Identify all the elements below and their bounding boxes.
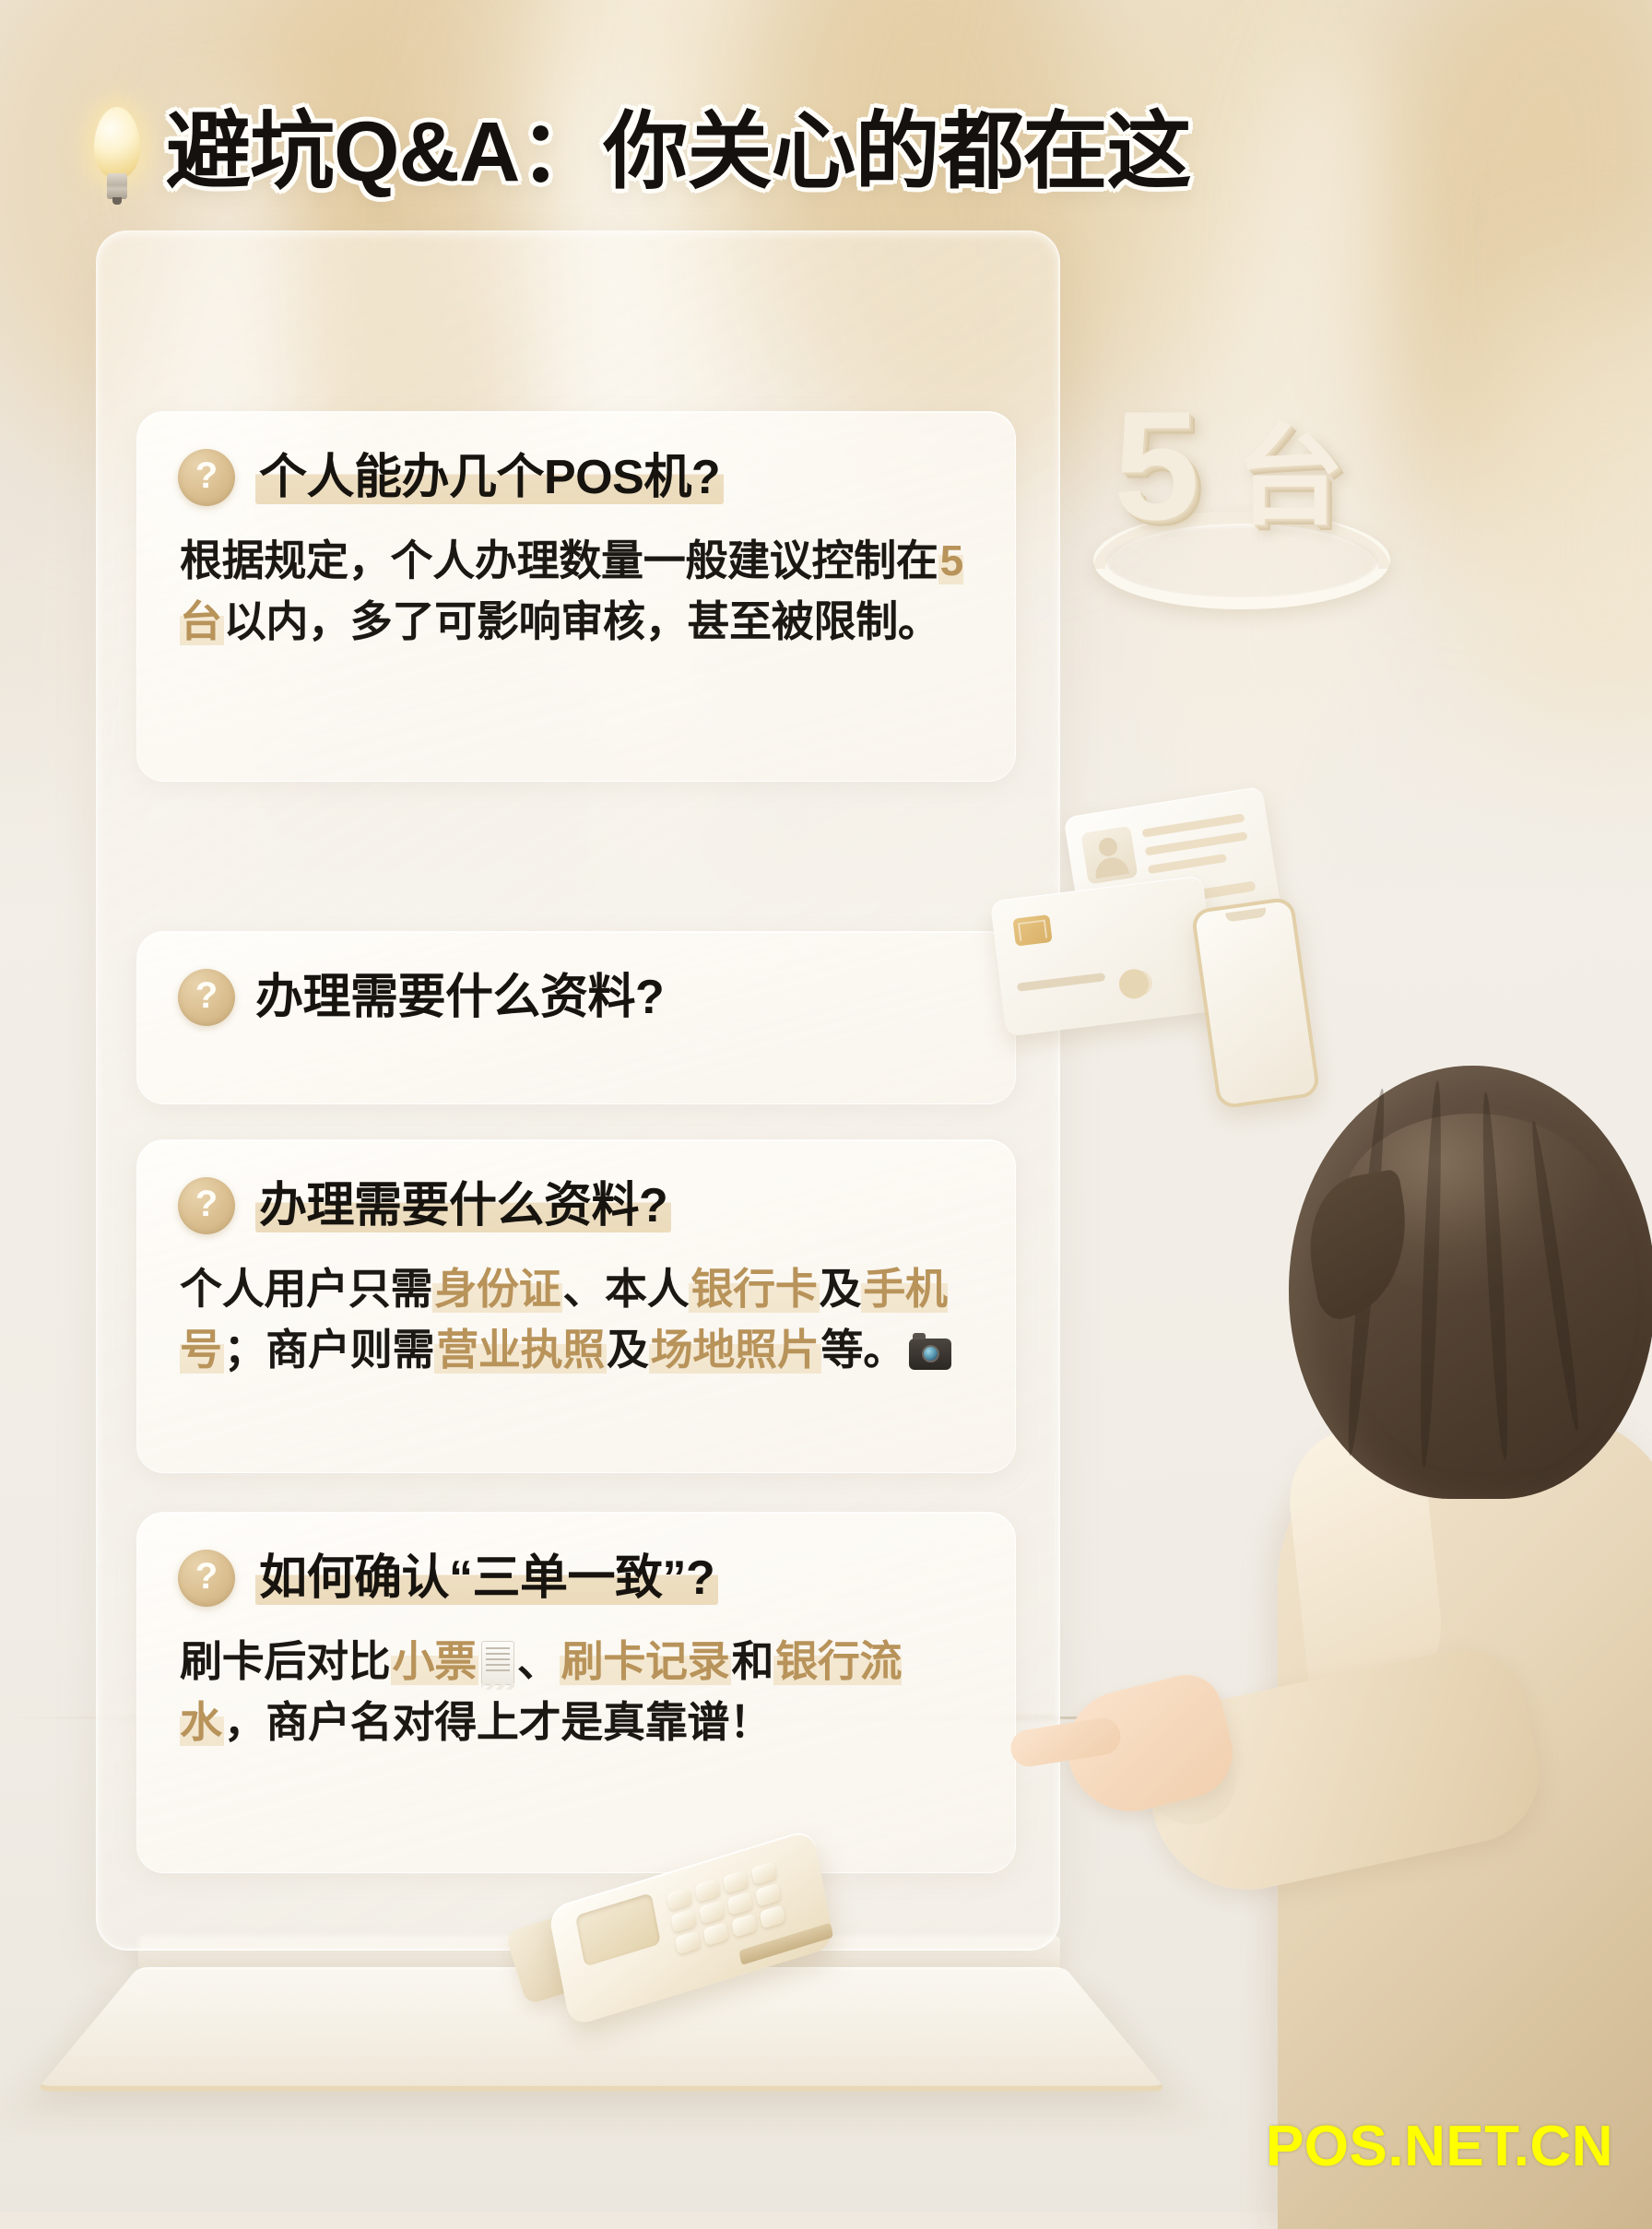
qa-card[interactable]: ? 办理需要什么资料? 个人用户只需身份证、本人银行卡及手机号；商户则需营业执照… bbox=[136, 1139, 1016, 1473]
qa-card[interactable]: ? 个人能办几个POS机? 根据规定，个人办理数量一般建议控制在5台以内，多了可… bbox=[136, 411, 1016, 782]
pos-screen bbox=[575, 1893, 661, 1966]
answer-highlight: 营业执照 bbox=[434, 1326, 607, 1374]
answer-text: 刷卡后对比小票、刷卡记录和银行流水，商户名对得上才是真靠谱！ bbox=[137, 1607, 1015, 1752]
answer-segment: 及 bbox=[607, 1326, 649, 1374]
qa-card[interactable]: ? 办理需要什么资料? bbox=[136, 931, 1016, 1104]
watermark: POS.NET.CN bbox=[1266, 2114, 1613, 2179]
answer-segment: 等。 bbox=[821, 1326, 905, 1374]
question-text: 如何确认“三单一致”? bbox=[255, 1550, 718, 1605]
question-row: ? 办理需要什么资料? bbox=[137, 932, 1015, 1026]
question-row: ? 办理需要什么资料? bbox=[137, 1140, 1015, 1234]
answer-segment: ；商户则需 bbox=[224, 1326, 435, 1374]
question-badge-icon: ? bbox=[178, 449, 235, 506]
question-row: ? 如何确认“三单一致”? bbox=[137, 1513, 1015, 1607]
question-label: 办理需要什么资料? bbox=[255, 1179, 671, 1232]
answer-segment: 以内，多了可影响审核，甚至被限制。 bbox=[224, 597, 940, 645]
question-row: ? 个人能办几个POS机? bbox=[137, 412, 1015, 506]
question-badge-icon: ? bbox=[178, 1550, 235, 1607]
question-text: 办理需要什么资料? bbox=[255, 1177, 671, 1232]
bank-card-icon bbox=[990, 875, 1219, 1036]
question-label: 个人能办几个POS机? bbox=[255, 451, 724, 504]
decor-count-number: 5 bbox=[1114, 388, 1199, 543]
answer-highlight: 身份证 bbox=[432, 1265, 562, 1313]
camera-icon bbox=[909, 1339, 951, 1370]
lightbulb-icon bbox=[88, 107, 146, 205]
answer-segment: 、本人 bbox=[562, 1265, 689, 1313]
answer-text: 个人用户只需身份证、本人银行卡及手机号；商户则需营业执照及场地照片等。 bbox=[137, 1234, 1015, 1380]
answer-segment: 根据规定，个人办理数量一般建议控制在 bbox=[180, 537, 938, 584]
question-label: 如何确认“三单一致”? bbox=[255, 1551, 718, 1605]
question-label: 办理需要什么资料? bbox=[255, 971, 664, 1024]
answer-highlight: 银行卡 bbox=[689, 1265, 819, 1313]
receipt-icon bbox=[481, 1641, 514, 1685]
answer-segment: 个人用户只需 bbox=[180, 1265, 432, 1313]
answer-segment: 及 bbox=[820, 1265, 862, 1313]
answer-segment: 、 bbox=[517, 1637, 560, 1685]
qa-card[interactable]: ? 如何确认“三单一致”? 刷卡后对比小票、刷卡记录和银行流水，商户名对得上才是… bbox=[136, 1512, 1016, 1873]
pos-terminal-illustration bbox=[498, 1853, 885, 2129]
page-title: 避坑Q&A：你关心的都在这 bbox=[166, 108, 1190, 198]
answer-segment: 和 bbox=[731, 1637, 773, 1685]
question-text: 办理需要什么资料? bbox=[255, 969, 664, 1024]
answer-text: 根据规定，个人办理数量一般建议控制在5台以内，多了可影响审核，甚至被限制。 bbox=[137, 506, 1015, 652]
page-header: 避坑Q&A：你关心的都在这 bbox=[88, 88, 1149, 218]
woman-figure-illustration bbox=[1150, 1040, 1652, 2212]
question-badge-icon: ? bbox=[178, 1177, 235, 1234]
question-text: 个人能办几个POS机? bbox=[255, 449, 724, 504]
five-units-illustration: 5 台 bbox=[1088, 383, 1401, 622]
answer-highlight: 刷卡记录 bbox=[560, 1637, 732, 1685]
answer-highlight: 小票 bbox=[391, 1637, 478, 1685]
answer-segment: 刷卡后对比 bbox=[180, 1637, 391, 1685]
answer-highlight: 场地照片 bbox=[649, 1326, 821, 1374]
decor-count-unit: 台 bbox=[1235, 423, 1344, 532]
answer-segment: ，商户名对得上才是真靠谱！ bbox=[224, 1698, 772, 1746]
question-badge-icon: ? bbox=[178, 969, 235, 1026]
pos-body bbox=[548, 1828, 835, 2027]
